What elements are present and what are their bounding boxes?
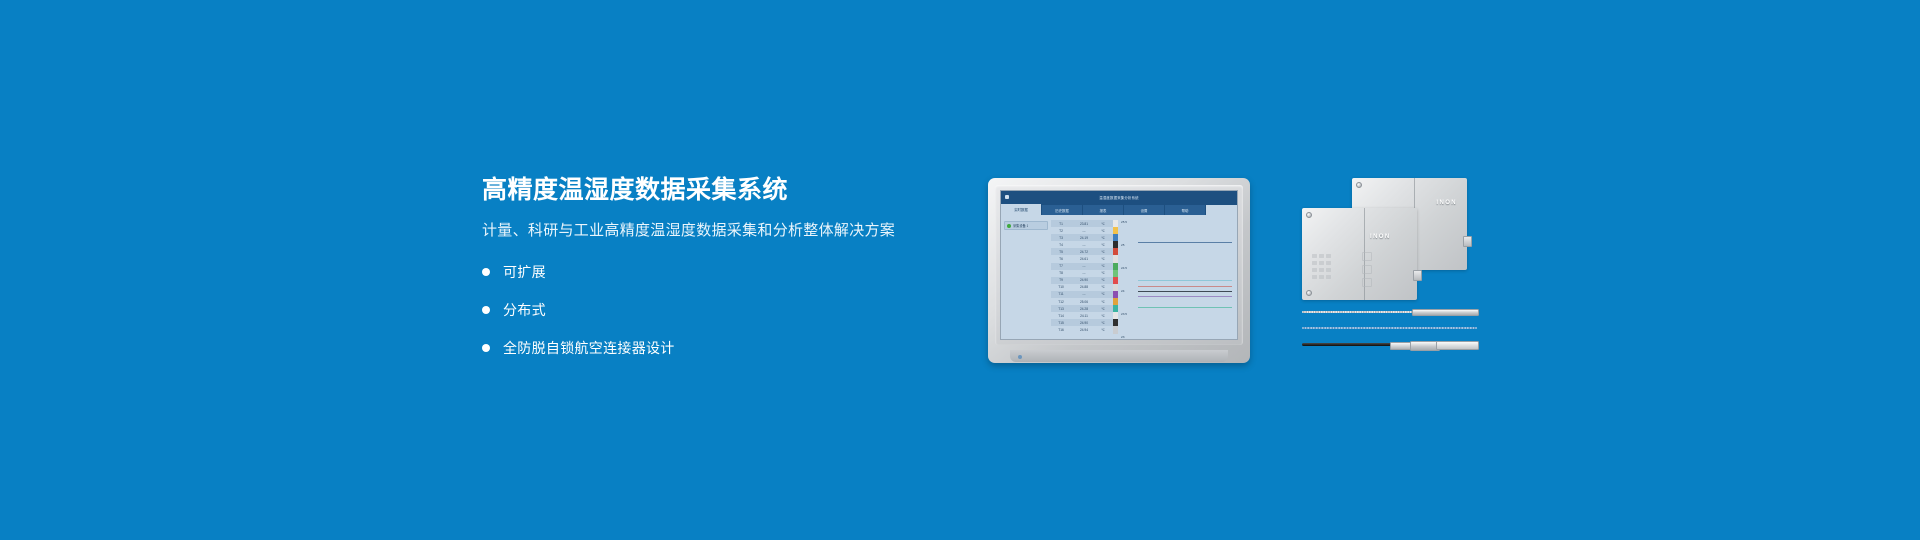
app-title-bar: 温湿度数据采集分析系统	[1001, 191, 1237, 203]
bullet-dot-icon	[482, 344, 490, 352]
sidebar-item-label: 采集设备 1	[1013, 223, 1028, 228]
monitor-stand	[1010, 350, 1228, 362]
app-body: 采集设备 1 T123.81℃T2---℃T324.19℃T4---℃T524.…	[1001, 215, 1237, 340]
cell-value: 24.88	[1071, 285, 1097, 289]
cell-value: 24.72	[1071, 250, 1097, 254]
channel-color-swatch	[1113, 319, 1118, 326]
table-row[interactable]: T2---℃	[1051, 227, 1113, 234]
tab-realtime-data[interactable]: 实时数据	[1001, 204, 1041, 215]
connector-port	[1463, 236, 1472, 247]
chart-plot-area	[1132, 221, 1234, 335]
cell-channel: T1	[1051, 222, 1071, 226]
table-row[interactable]: T1024.88℃	[1051, 284, 1113, 291]
probe-tip	[1412, 309, 1479, 316]
cell-unit: ℃	[1097, 264, 1109, 268]
cell-unit: ℃	[1097, 257, 1109, 261]
panel-pc-monitor: 温湿度数据采集分析系统 实时数据 历史数据 报表 设置 帮助 采集设备 1	[988, 178, 1250, 363]
chart-y-tick-label: 25.5	[1121, 220, 1127, 224]
tab-report[interactable]: 报表	[1083, 205, 1123, 215]
chart-series-line	[1138, 291, 1232, 292]
cell-value: 24.19	[1071, 236, 1097, 240]
cell-unit: ℃	[1097, 271, 1109, 275]
cell-unit: ℃	[1097, 285, 1109, 289]
monitor-bezel: 温湿度数据采集分析系统 实时数据 历史数据 报表 设置 帮助 采集设备 1	[995, 185, 1243, 345]
io-ports	[1362, 252, 1382, 290]
cell-channel: T11	[1051, 292, 1071, 296]
cell-channel: T14	[1051, 314, 1071, 318]
app-tab-bar: 实时数据 历史数据 报表 设置 帮助	[1001, 203, 1237, 215]
humidity-probe-blue-cable	[1302, 324, 1477, 332]
cell-channel: T12	[1051, 300, 1071, 304]
connector-port	[1413, 270, 1422, 281]
cell-value: ---	[1071, 264, 1097, 268]
promo-banner: 高精度温湿度数据采集系统 计量、科研与工业高精度温湿度数据采集和分析整体解决方案…	[0, 0, 1920, 540]
chart-series-line	[1138, 286, 1232, 287]
table-row[interactable]: T524.72℃	[1051, 248, 1113, 255]
cell-value: 24.94	[1071, 328, 1097, 332]
chart-series-line	[1138, 280, 1232, 281]
cell-unit: ℃	[1097, 321, 1109, 325]
bullet-label: 可扩展	[503, 263, 546, 281]
cell-unit: ℃	[1097, 314, 1109, 318]
table-row[interactable]: T11---℃	[1051, 291, 1113, 298]
channel-color-swatch	[1113, 220, 1118, 227]
cell-channel: T3	[1051, 236, 1071, 240]
status-online-icon	[1007, 224, 1011, 228]
tab-settings[interactable]: 设置	[1124, 205, 1164, 215]
chart-y-axis: 25.52524.52423.523	[1121, 220, 1131, 335]
chart-series-line	[1138, 307, 1232, 308]
monitor-screen: 温湿度数据采集分析系统 实时数据 历史数据 报表 设置 帮助 采集设备 1	[1000, 190, 1238, 340]
channel-color-swatch	[1113, 305, 1118, 312]
cell-unit: ℃	[1097, 243, 1109, 247]
probe-cable	[1302, 343, 1394, 346]
cell-value: ---	[1071, 271, 1097, 275]
app-window-title: 温湿度数据采集分析系统	[1001, 195, 1237, 200]
chart-y-tick-label: 24.5	[1121, 266, 1127, 270]
cell-unit: ℃	[1097, 292, 1109, 296]
channel-color-swatch	[1113, 255, 1118, 262]
cell-channel: T10	[1051, 285, 1071, 289]
cell-channel: T13	[1051, 307, 1071, 311]
bullet-dot-icon	[482, 268, 490, 276]
cell-value: 24.90	[1071, 321, 1097, 325]
page-title: 高精度温湿度数据采集系统	[482, 175, 952, 205]
screw-icon	[1306, 212, 1312, 218]
channel-color-swatch	[1113, 277, 1118, 284]
table-row[interactable]: T324.19℃	[1051, 234, 1113, 241]
cell-channel: T2	[1051, 229, 1071, 233]
cell-channel: T8	[1051, 271, 1071, 275]
power-led-icon	[1018, 355, 1022, 359]
cell-value: 24.28	[1071, 307, 1097, 311]
channel-color-swatch	[1113, 227, 1118, 234]
cell-value: 24.61	[1071, 257, 1097, 261]
connector-grid	[1312, 254, 1356, 286]
banner-copy: 高精度温湿度数据采集系统 计量、科研与工业高精度温湿度数据采集和分析整体解决方案…	[482, 175, 952, 377]
bullet-dot-icon	[482, 306, 490, 314]
chart-series-line	[1138, 296, 1232, 297]
channel-color-swatch	[1113, 298, 1118, 305]
table-row[interactable]: T7---℃	[1051, 263, 1113, 270]
brand-logo: INON	[1370, 234, 1391, 240]
feature-bullet-list: 可扩展 分布式 全防脱自锁航空连接器设计	[482, 263, 952, 357]
probe-sensor-head	[1436, 341, 1479, 350]
cell-channel: T15	[1051, 321, 1071, 325]
app-sidebar: 采集设备 1	[1001, 215, 1051, 340]
cell-value: ---	[1071, 243, 1097, 247]
channel-color-swatch	[1113, 241, 1118, 248]
temperature-probe-braided	[1302, 308, 1477, 316]
table-row[interactable]: T4---℃	[1051, 241, 1113, 248]
cell-unit: ℃	[1097, 328, 1109, 332]
list-item: 分布式	[482, 301, 952, 319]
cell-unit: ℃	[1097, 222, 1109, 226]
screw-icon	[1306, 290, 1312, 296]
cell-value: 24.11	[1071, 314, 1097, 318]
brand-logo: INON	[1436, 200, 1457, 206]
probe-cable	[1302, 311, 1414, 314]
chart-series-line	[1138, 242, 1232, 243]
cell-channel: T4	[1051, 243, 1071, 247]
tab-help[interactable]: 帮助	[1165, 205, 1205, 215]
cell-unit: ℃	[1097, 229, 1109, 233]
channel-color-swatch	[1113, 291, 1118, 298]
table-row[interactable]: T123.81℃	[1051, 220, 1113, 227]
cell-value: ---	[1071, 292, 1097, 296]
cell-channel: T7	[1051, 264, 1071, 268]
cell-channel: T6	[1051, 257, 1071, 261]
cell-channel: T5	[1051, 250, 1071, 254]
table-row[interactable]: T624.61℃	[1051, 255, 1113, 262]
channel-color-swatch	[1113, 270, 1118, 277]
channel-color-swatch	[1113, 248, 1118, 255]
channel-color-swatch	[1113, 312, 1118, 319]
list-item: 可扩展	[482, 263, 952, 281]
chart-y-tick-label: 23	[1121, 335, 1124, 339]
table-row[interactable]: T1424.11℃	[1051, 312, 1113, 319]
table-row[interactable]: T1225.06℃	[1051, 298, 1113, 305]
cell-value: 24.90	[1071, 278, 1097, 282]
channel-color-swatch	[1113, 263, 1118, 270]
cell-channel: T16	[1051, 328, 1071, 332]
table-row[interactable]: T924.90℃	[1051, 277, 1113, 284]
bullet-label: 全防脱自锁航空连接器设计	[503, 339, 675, 357]
table-row[interactable]: T1624.94℃	[1051, 326, 1113, 333]
chart-y-tick-label: 23.5	[1121, 312, 1127, 316]
sensor-readings-table: T123.81℃T2---℃T324.19℃T4---℃T524.72℃T624…	[1051, 215, 1113, 340]
cell-unit: ℃	[1097, 307, 1109, 311]
cell-value: ---	[1071, 229, 1097, 233]
channel-color-swatch	[1113, 326, 1118, 333]
cell-unit: ℃	[1097, 300, 1109, 304]
channel-color-swatch	[1113, 234, 1118, 241]
table-row[interactable]: T1324.28℃	[1051, 305, 1113, 312]
cell-channel: T9	[1051, 278, 1071, 282]
sidebar-item-device-1[interactable]: 采集设备 1	[1004, 221, 1048, 230]
chart-y-tick-label: 24	[1121, 289, 1124, 293]
cell-unit: ℃	[1097, 250, 1109, 254]
data-logger-enclosure-front: INON	[1302, 208, 1417, 300]
trend-chart: 25.52524.52423.523 14:20:0014:40:0015:00…	[1119, 215, 1237, 340]
tab-history-data[interactable]: 历史数据	[1042, 205, 1082, 215]
screw-icon	[1356, 182, 1362, 188]
table-row[interactable]: T1524.90℃	[1051, 319, 1113, 326]
probe-cable	[1302, 327, 1477, 330]
list-item: 全防脱自锁航空连接器设计	[482, 339, 952, 357]
cell-value: 25.06	[1071, 300, 1097, 304]
cell-unit: ℃	[1097, 236, 1109, 240]
table-row[interactable]: T8---℃	[1051, 270, 1113, 277]
cell-value: 23.81	[1071, 222, 1097, 226]
tab-bar-filler	[1206, 205, 1237, 215]
channel-color-swatch	[1113, 284, 1118, 291]
bullet-label: 分布式	[503, 301, 546, 319]
cell-unit: ℃	[1097, 278, 1109, 282]
page-subtitle: 计量、科研与工业高精度温湿度数据采集和分析整体解决方案	[482, 221, 952, 241]
sensor-probe-black-cable	[1302, 340, 1477, 350]
product-photos: INON INON	[1300, 176, 1480, 366]
chart-y-tick-label: 25	[1121, 243, 1124, 247]
